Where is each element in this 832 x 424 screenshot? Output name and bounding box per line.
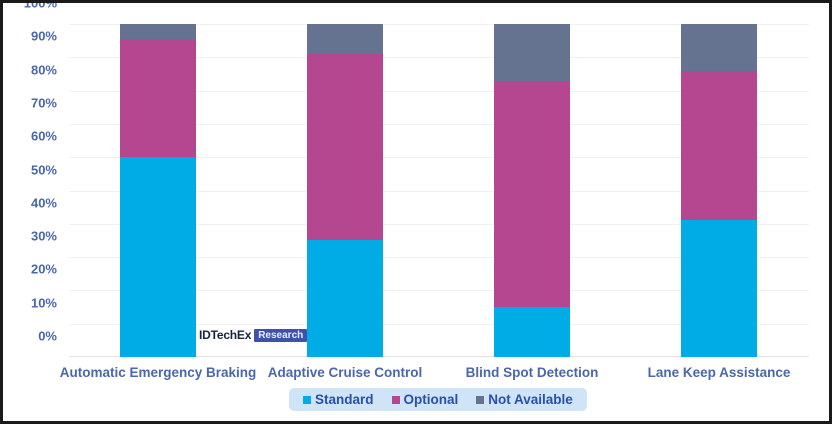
bar-segment-standard[interactable]	[307, 240, 383, 357]
y-axis-tick: 70%	[0, 95, 57, 110]
watermark-idtechex: IDTechEx Research	[199, 328, 307, 342]
legend-item-not-available[interactable]: Not Available	[476, 392, 573, 407]
bar-segment-not-available[interactable]	[494, 24, 570, 81]
legend-label: Optional	[404, 392, 459, 407]
bar-segment-standard[interactable]	[494, 307, 570, 357]
y-axis-tick: 30%	[0, 229, 57, 244]
bar-segment-not-available[interactable]	[120, 24, 196, 39]
y-axis-tick: 80%	[0, 62, 57, 77]
bar-segment-not-available[interactable]	[307, 24, 383, 54]
y-axis-tick: 0%	[0, 329, 57, 344]
watermark-brand-name: IDTechEx	[199, 328, 251, 342]
bar-segment-not-available[interactable]	[681, 24, 757, 71]
bar-adaptive-cruise-control[interactable]	[307, 24, 383, 357]
legend-swatch-icon	[476, 396, 484, 404]
y-axis-tick: 90%	[0, 29, 57, 44]
bar-blind-spot-detection[interactable]	[494, 24, 570, 357]
bar-segment-optional[interactable]	[681, 71, 757, 221]
legend-label: Not Available	[488, 392, 573, 407]
legend-item-optional[interactable]: Optional	[392, 392, 459, 407]
legend-swatch-icon	[392, 396, 400, 404]
bar-segment-optional[interactable]	[494, 81, 570, 307]
bar-lane-keep-assistance[interactable]	[681, 24, 757, 357]
bar-automatic-emergency-braking[interactable]	[120, 24, 196, 357]
y-axis-tick: 60%	[0, 129, 57, 144]
y-axis-tick: 100%	[0, 0, 57, 11]
bar-segment-optional[interactable]	[307, 54, 383, 240]
chart-screenshot: 100% 90% 80% 70% 60% 50% 40% 30% 20% 10%…	[0, 0, 832, 424]
legend-label: Standard	[315, 392, 374, 407]
y-axis-tick: 20%	[0, 262, 57, 277]
y-axis-tick: 10%	[0, 295, 57, 310]
bar-segment-standard[interactable]	[681, 220, 757, 357]
watermark-brand-tag: Research	[254, 329, 307, 342]
x-axis-label-lane-keep-assistance: Lane Keep Assistance	[589, 365, 832, 380]
legend-swatch-icon	[303, 396, 311, 404]
y-axis-tick: 50%	[0, 162, 57, 177]
bar-segment-optional[interactable]	[120, 39, 196, 157]
chart-legend: Standard Optional Not Available	[289, 388, 587, 411]
legend-item-standard[interactable]: Standard	[303, 392, 374, 407]
y-axis-tick: 40%	[0, 195, 57, 210]
bar-segment-standard[interactable]	[120, 157, 196, 357]
plot-area	[69, 24, 809, 357]
